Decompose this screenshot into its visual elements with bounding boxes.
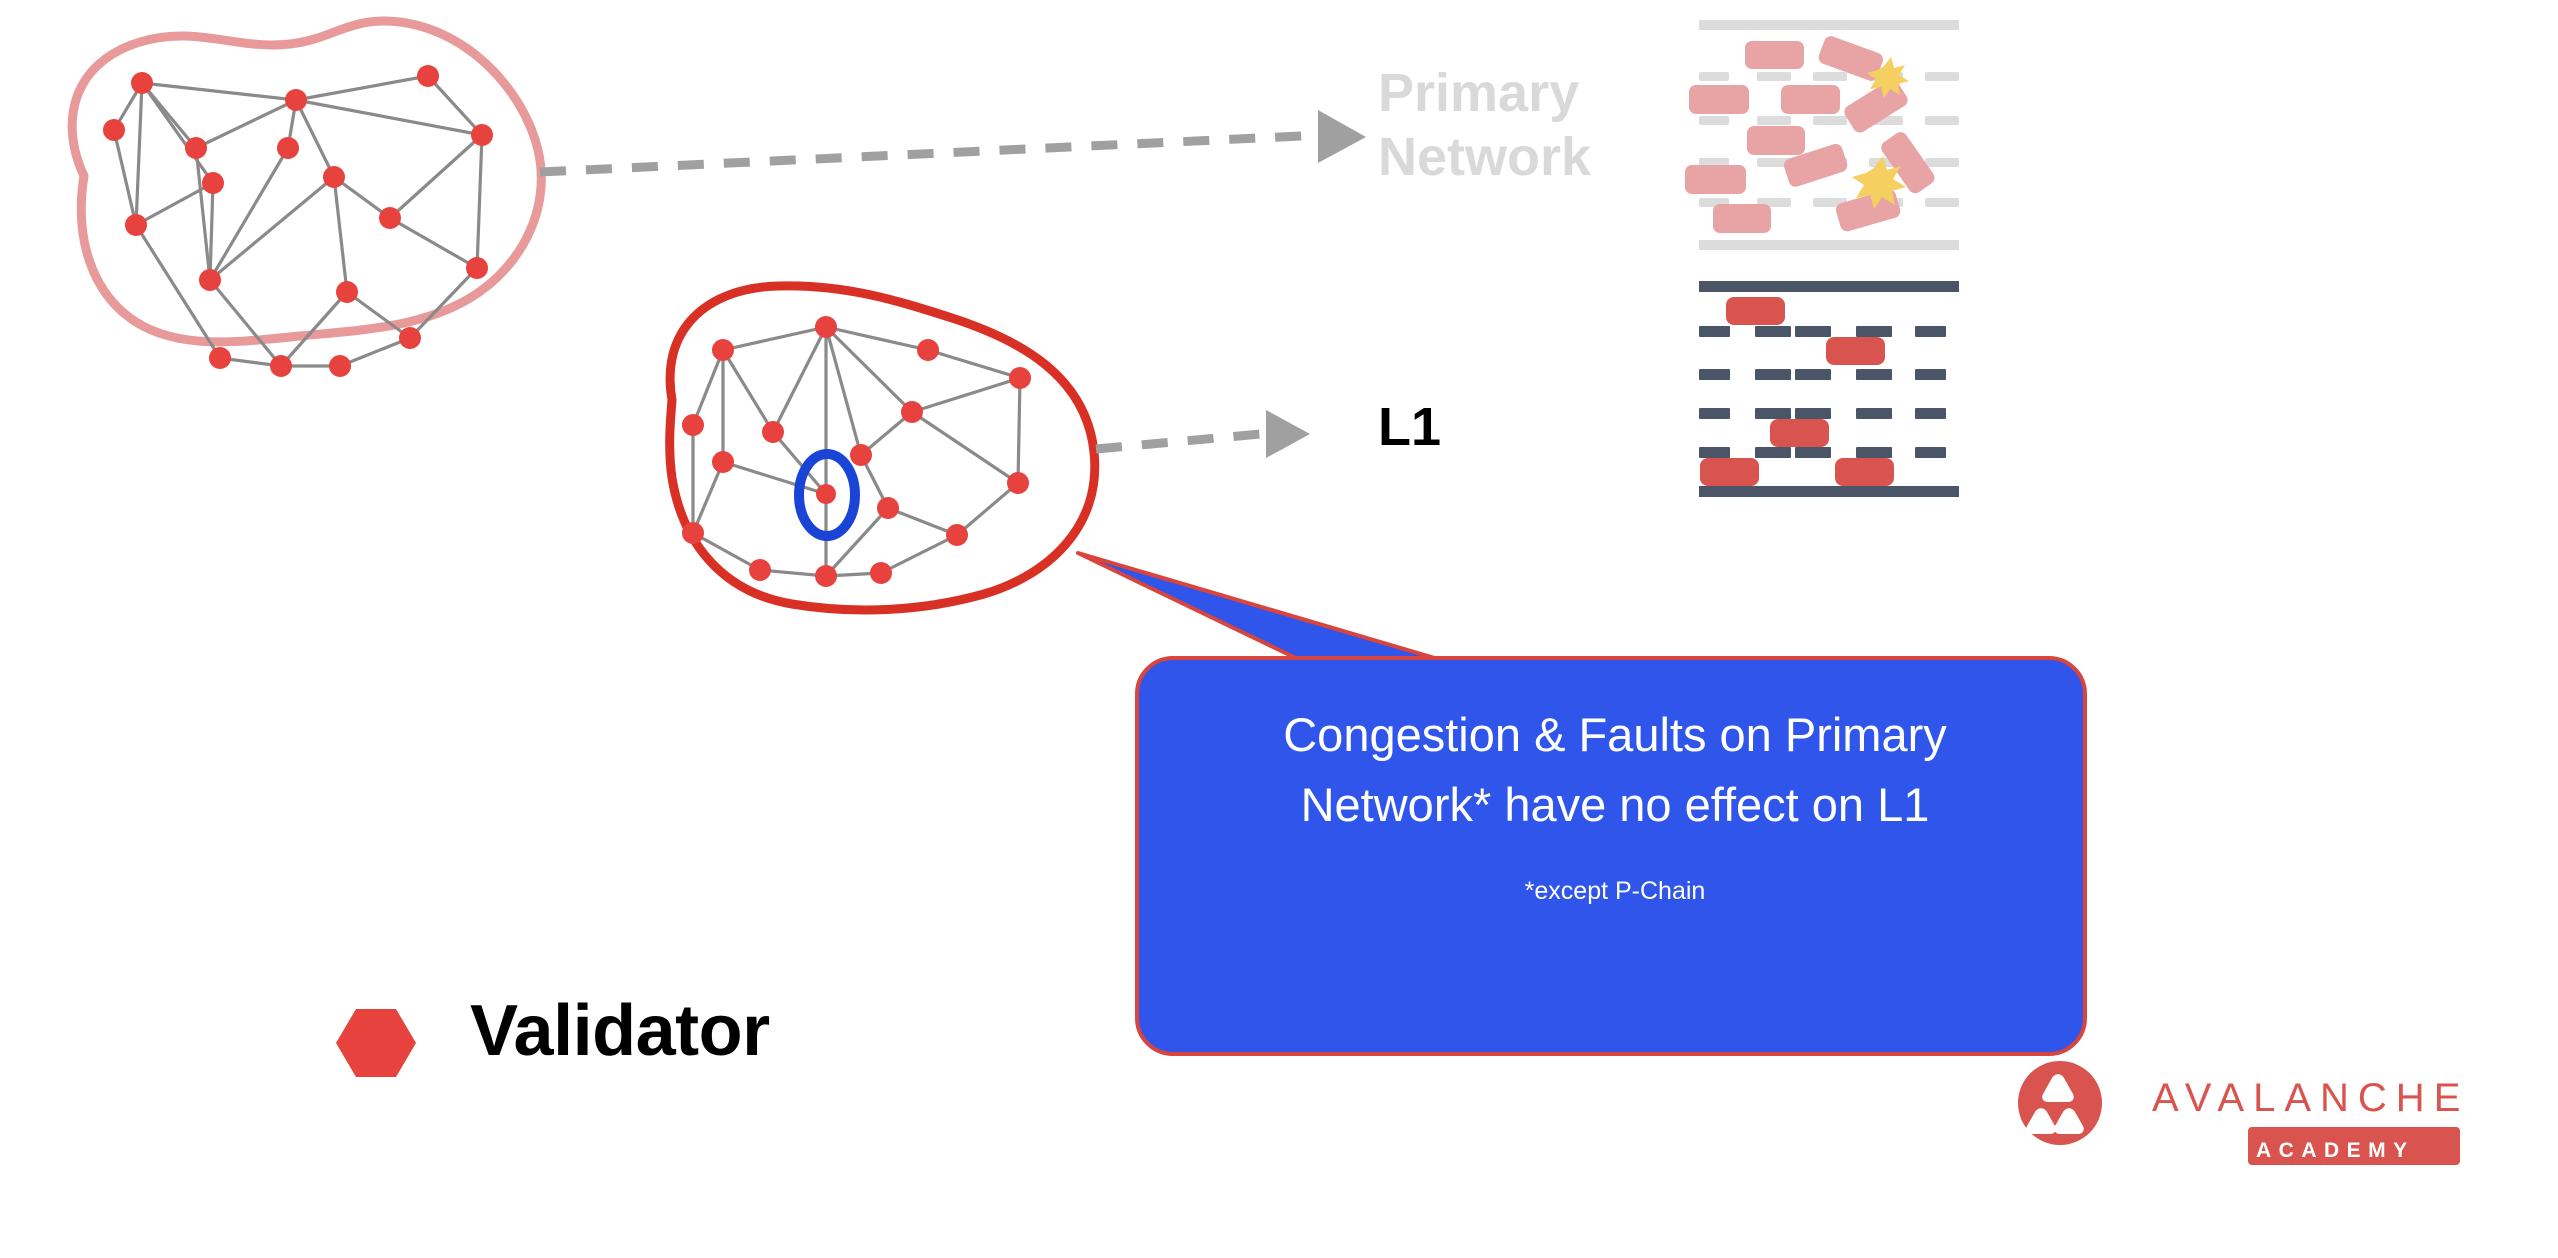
diagram-svg	[0, 0, 2558, 1258]
arrow-to-l1	[1096, 410, 1310, 458]
l1-label: L1	[1378, 396, 1441, 458]
primary-network-congestion-illustration	[1685, 20, 1959, 250]
primary-network-cluster	[72, 21, 541, 377]
callout-text-block: Congestion & Faults on Primary Network* …	[1155, 700, 2075, 906]
callout-main-line2: Network* have no effect on L1	[1301, 778, 1930, 831]
avalanche-wordmark: AVALANCHE	[2152, 1076, 2469, 1121]
l1-outline	[670, 286, 1095, 610]
callout-main-text: Congestion & Faults on Primary Network* …	[1155, 700, 2075, 839]
l1-cluster	[670, 286, 1095, 610]
primary-network-edges	[114, 76, 482, 366]
diagram-canvas: PrimaryNetwork L1 Validator Congestion &…	[0, 0, 2558, 1258]
legend-validator-label: Validator	[470, 990, 770, 1072]
callout-footnote: *except P-Chain	[1155, 877, 2075, 906]
primary-network-outline	[72, 21, 541, 342]
callout-main-line1: Congestion & Faults on Primary	[1283, 708, 1947, 761]
primary-network-label: PrimaryNetwork	[1378, 62, 1591, 189]
academy-wordmark: ACADEMY	[2256, 1139, 2415, 1163]
l1-clean-blocks-illustration	[1699, 281, 1959, 497]
legend-validator-hexagon-icon	[336, 1009, 416, 1077]
primary-network-label-line1: Primary	[1378, 63, 1579, 123]
primary-network-label-line2: Network	[1378, 127, 1591, 187]
arrow-to-primary-network	[540, 110, 1366, 172]
